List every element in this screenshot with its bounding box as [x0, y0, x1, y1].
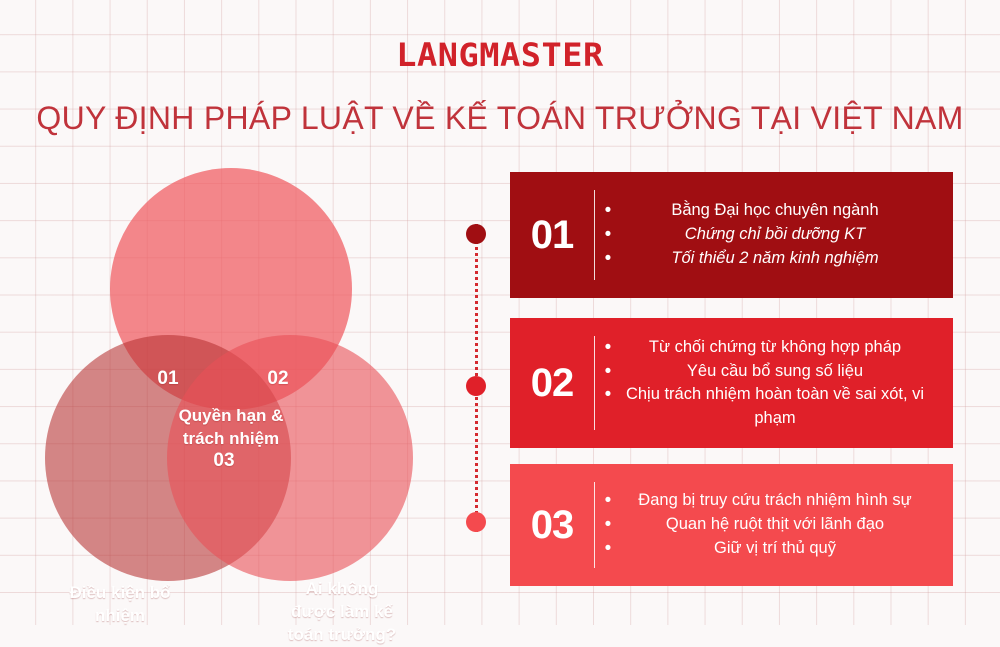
card-bullet-list-01: • Bằng Đại học chuyên ngành • Chứng chỉ …: [595, 172, 953, 298]
list-item: • Từ chối chứng từ không hợp pháp: [595, 336, 943, 360]
page-title: QUY ĐỊNH PHÁP LUẬT VỀ KẾ TOÁN TRƯỞNG TẠI…: [0, 100, 1000, 137]
list-item-text: Giữ vị trí thủ quỹ: [621, 537, 943, 560]
list-item: • Tối thiểu 2 năm kinh nghiệm: [595, 247, 943, 271]
list-item-text: Tối thiểu 2 năm kinh nghiệm: [621, 247, 943, 270]
list-item: • Bằng Đại học chuyên ngành: [595, 199, 943, 223]
info-card-03[interactable]: 03 • Đang bị truy cứu trách nhiệm hình s…: [510, 464, 953, 586]
connector-timeline: [460, 210, 492, 540]
infographic-page: LANGMASTER QUY ĐỊNH PHÁP LUẬT VỀ KẾ TOÁN…: [0, 0, 1000, 625]
list-item: • Quan hệ ruột thịt với lãnh đạo: [595, 513, 943, 537]
list-item-text: Từ chối chứng từ không hợp pháp: [621, 336, 943, 359]
bullet-icon: •: [595, 383, 621, 407]
connector-dot-02: [466, 376, 486, 396]
info-card-02[interactable]: 02 • Từ chối chứng từ không hợp pháp • Y…: [510, 318, 953, 448]
venn-label-right: Ai khôngđược làm kếtoán trưởng?: [262, 578, 422, 647]
card-number-02: 02: [510, 318, 594, 448]
list-item-text: Đang bị truy cứu trách nhiệm hình sự: [621, 489, 943, 512]
list-item-text: Chứng chỉ bồi dưỡng KT: [621, 223, 943, 246]
venn-label-top: Quyền hạn &trách nhiệm: [110, 405, 352, 451]
info-card-01[interactable]: 01 • Bằng Đại học chuyên ngành • Chứng c…: [510, 172, 953, 298]
bullet-icon: •: [595, 336, 621, 360]
bullet-icon: •: [595, 537, 621, 561]
venn-overlap-01: 01: [138, 368, 198, 390]
list-item: • Yêu cầu bổ sung số liệu: [595, 360, 943, 384]
bullet-icon: •: [595, 513, 621, 537]
list-item: • Chứng chỉ bồi dưỡng KT: [595, 223, 943, 247]
bullet-icon: •: [595, 360, 621, 384]
langmaster-logo: LANGMASTER: [0, 36, 1000, 74]
bullet-icon: •: [595, 489, 621, 513]
venn-diagram: Quyền hạn &trách nhiệm Điều kiện bổnhiệm…: [0, 160, 470, 600]
bullet-icon: •: [595, 199, 621, 223]
list-item-text: Bằng Đại học chuyên ngành: [621, 199, 943, 222]
connector-dot-03: [466, 512, 486, 532]
venn-label-left: Điều kiện bổnhiệm: [30, 582, 210, 628]
list-item: • Chịu trách nhiệm hoàn toàn về sai xót,…: [595, 383, 943, 430]
card-bullet-list-02: • Từ chối chứng từ không hợp pháp • Yêu …: [595, 318, 953, 448]
card-number-03: 03: [510, 464, 594, 586]
list-item-text: Quan hệ ruột thịt với lãnh đạo: [621, 513, 943, 536]
connector-dot-01: [466, 224, 486, 244]
list-item: • Đang bị truy cứu trách nhiệm hình sự: [595, 489, 943, 513]
card-number-01: 01: [510, 172, 594, 298]
venn-overlap-03: 03: [194, 450, 254, 472]
bullet-icon: •: [595, 247, 621, 271]
venn-overlap-02: 02: [248, 368, 308, 390]
bullet-icon: •: [595, 223, 621, 247]
list-item: • Giữ vị trí thủ quỹ: [595, 537, 943, 561]
card-bullet-list-03: • Đang bị truy cứu trách nhiệm hình sự •…: [595, 464, 953, 586]
list-item-text: Yêu cầu bổ sung số liệu: [621, 360, 943, 383]
list-item-text: Chịu trách nhiệm hoàn toàn về sai xót, v…: [621, 383, 943, 430]
